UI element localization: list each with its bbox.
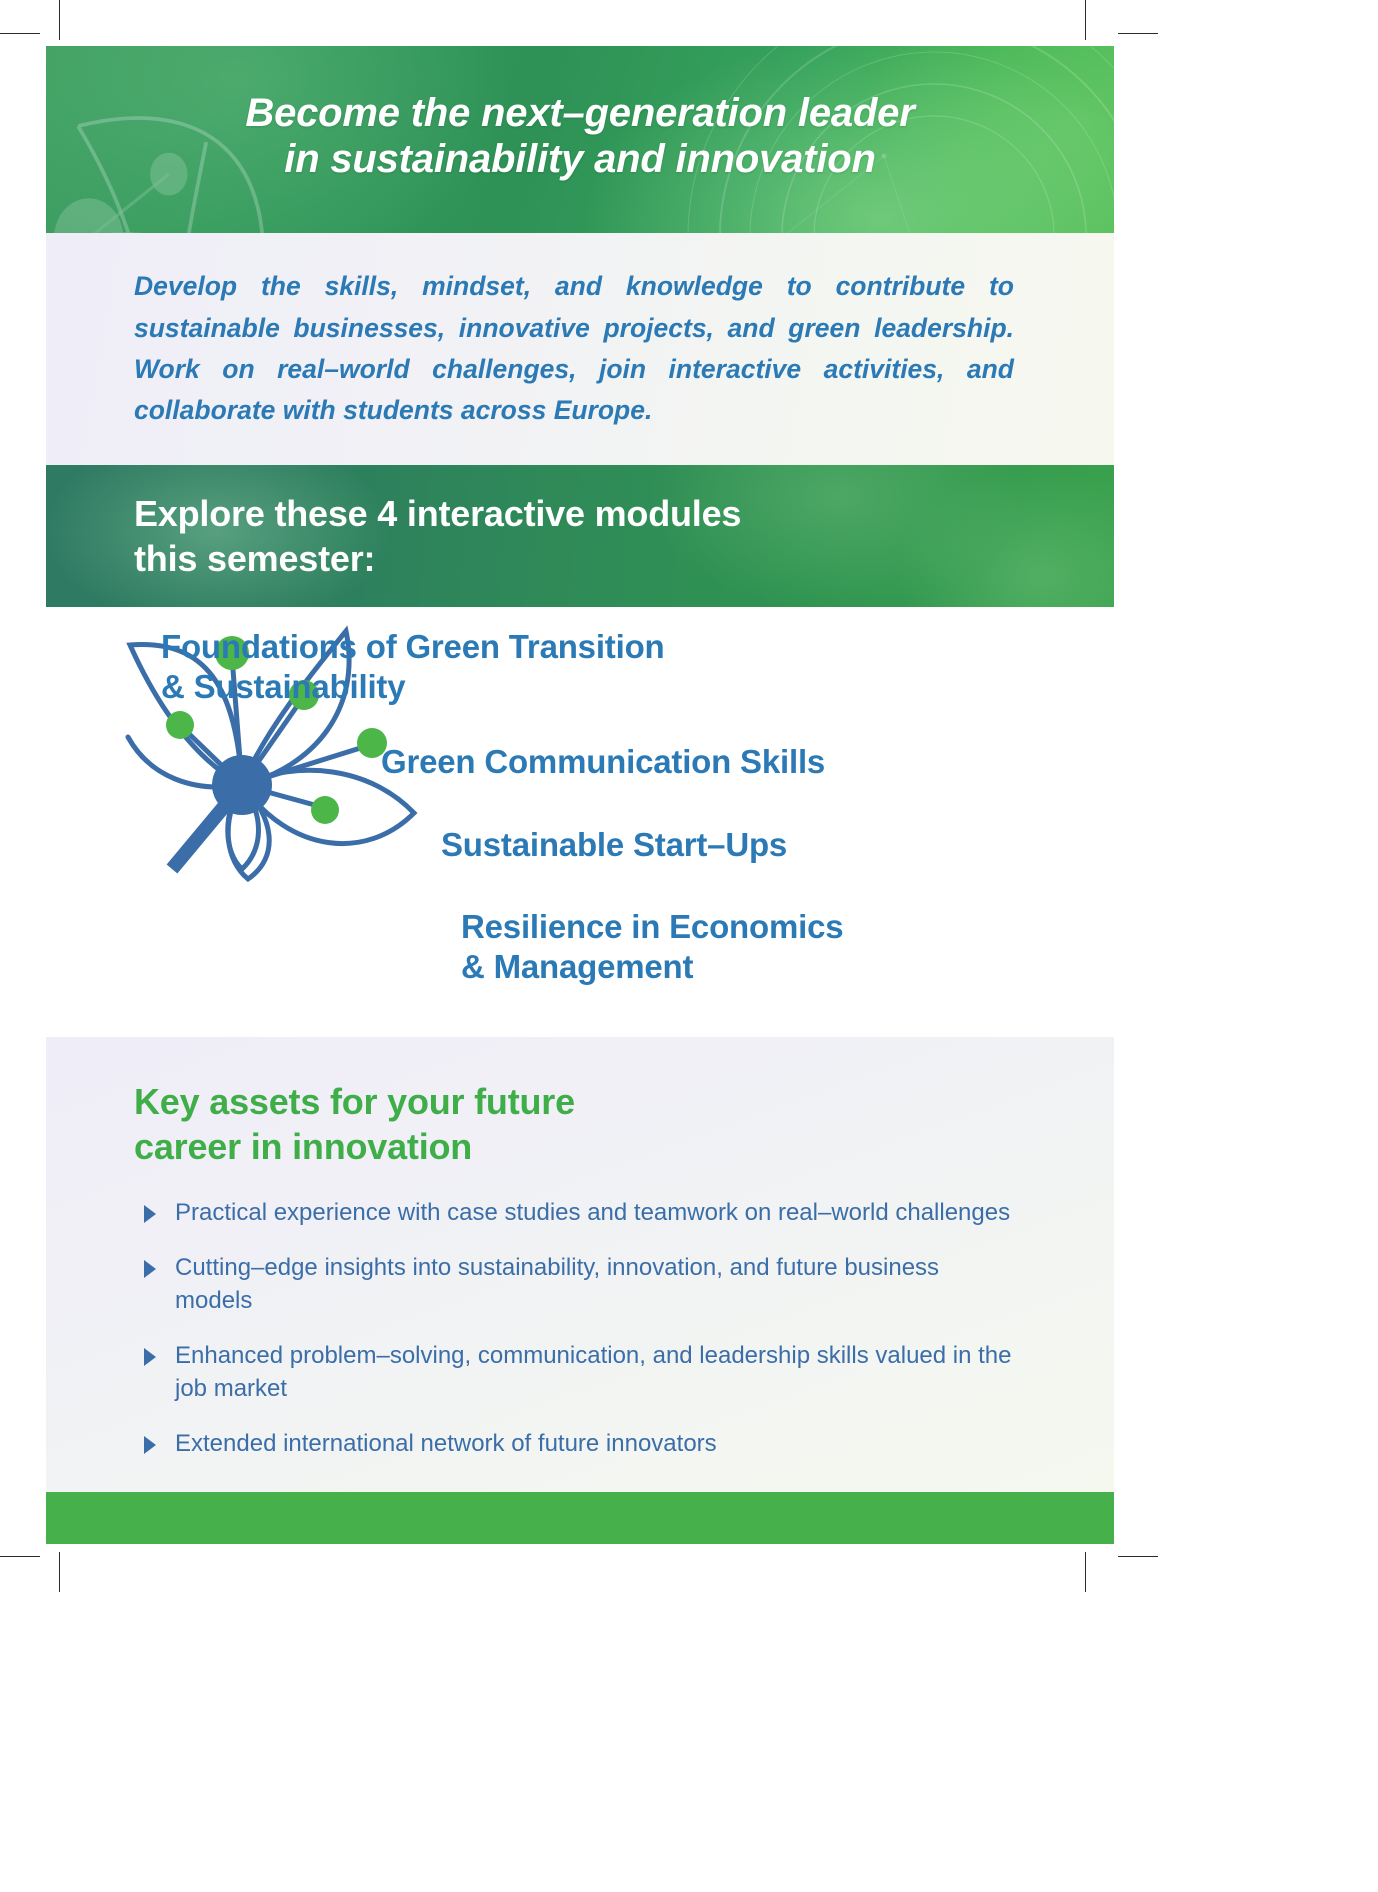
- crop-mark-top-right-h: [1118, 33, 1158, 34]
- key-asset-text-0: Practical experience with case studies a…: [175, 1196, 1010, 1229]
- crop-mark-bottom-right-h: [1118, 1556, 1158, 1557]
- hero-banner: Become the next–generation leader in sus…: [46, 46, 1114, 233]
- crop-mark-top-left-h: [0, 33, 40, 34]
- module-2-line-1: Sustainable Start–Ups: [441, 826, 787, 863]
- intro-section: Develop the skills, mindset, and knowled…: [46, 233, 1114, 465]
- key-asset-text-1: Cutting–edge insights into sustainabilit…: [175, 1251, 1015, 1317]
- crop-mark-top-right-v: [1085, 0, 1086, 40]
- list-item: Practical experience with case studies a…: [134, 1196, 1044, 1229]
- list-item: Enhanced problem–solving, communication,…: [134, 1339, 1044, 1405]
- module-0-line-2: & Sustainability: [161, 668, 405, 705]
- crop-mark-bottom-left-h: [0, 1556, 40, 1557]
- list-item: Extended international network of future…: [134, 1427, 1044, 1460]
- modules-banner: Explore these 4 interactive modules this…: [46, 465, 1114, 607]
- module-1-line-1: Green Communication Skills: [381, 743, 825, 780]
- key-asset-text-2: Enhanced problem–solving, communication,…: [175, 1339, 1015, 1405]
- logo-center-hub: [212, 755, 272, 815]
- hero-title-line-2: in sustainability and innovation: [284, 137, 875, 181]
- hero-title-line-1: Become the next–generation leader: [245, 91, 914, 135]
- modules-banner-heading-line-2: this semester:: [134, 538, 375, 579]
- triangle-bullet-icon: [144, 1260, 156, 1278]
- key-assets-heading-line-2: career in innovation: [134, 1126, 472, 1167]
- module-item-3[interactable]: Resilience in Economics & Management: [461, 907, 843, 986]
- triangle-bullet-icon: [144, 1205, 156, 1223]
- crop-mark-bottom-left-v: [59, 1552, 60, 1592]
- key-assets-heading: Key assets for your future career in inn…: [134, 1079, 1044, 1170]
- module-0-line-1: Foundations of Green Transition: [161, 628, 664, 665]
- modules-banner-heading: Explore these 4 interactive modules this…: [46, 491, 741, 582]
- footer-green-bar: [46, 1492, 1114, 1544]
- poster-page: Become the next–generation leader in sus…: [46, 46, 1114, 1544]
- intro-paragraph: Develop the skills, mindset, and knowled…: [46, 266, 1114, 431]
- key-asset-text-3: Extended international network of future…: [175, 1427, 717, 1460]
- crop-mark-bottom-right-v: [1085, 1552, 1086, 1592]
- module-item-0[interactable]: Foundations of Green Transition & Sustai…: [161, 627, 664, 706]
- triangle-bullet-icon: [144, 1436, 156, 1454]
- modules-banner-heading-line-1: Explore these 4 interactive modules: [134, 493, 741, 534]
- crop-mark-top-left-v: [59, 0, 60, 40]
- triangle-bullet-icon: [144, 1348, 156, 1366]
- module-item-2[interactable]: Sustainable Start–Ups: [441, 825, 787, 865]
- key-assets-heading-line-1: Key assets for your future: [134, 1081, 575, 1122]
- module-3-line-2: & Management: [461, 948, 693, 985]
- modules-section: Foundations of Green Transition & Sustai…: [46, 607, 1114, 1037]
- list-item: Cutting–edge insights into sustainabilit…: [134, 1251, 1044, 1317]
- module-item-1[interactable]: Green Communication Skills: [381, 742, 825, 782]
- module-3-line-1: Resilience in Economics: [461, 908, 843, 945]
- key-assets-section: Key assets for your future career in inn…: [46, 1037, 1114, 1492]
- page-title: Become the next–generation leader in sus…: [46, 90, 1114, 182]
